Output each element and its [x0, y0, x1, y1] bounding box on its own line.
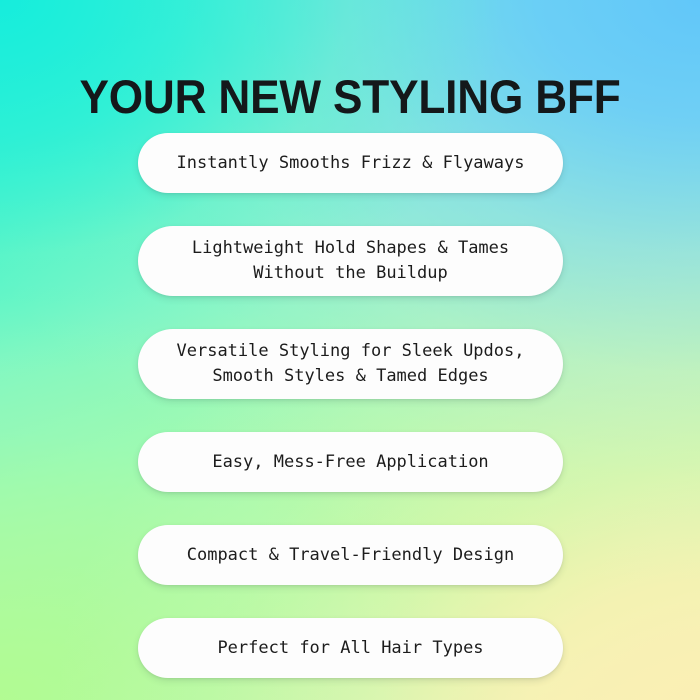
benefit-label: Versatile Styling for Sleek Updos, Smoot…	[177, 339, 525, 389]
page-title: YOUR NEW STYLING BFF	[21, 67, 679, 127]
list-item: Compact & Travel-Friendly Design	[138, 525, 563, 585]
product-benefits-poster: YOUR NEW STYLING BFF Instantly Smooths F…	[0, 0, 700, 700]
benefit-label: Easy, Mess-Free Application	[212, 450, 488, 475]
benefit-label: Lightweight Hold Shapes & Tames Without …	[192, 236, 509, 286]
benefit-label: Compact & Travel-Friendly Design	[187, 543, 515, 568]
poster-content: YOUR NEW STYLING BFF Instantly Smooths F…	[0, 0, 700, 700]
list-item: Perfect for All Hair Types	[138, 618, 563, 678]
list-item: Easy, Mess-Free Application	[138, 432, 563, 492]
list-item: Lightweight Hold Shapes & Tames Without …	[138, 226, 563, 296]
benefit-label: Instantly Smooths Frizz & Flyaways	[177, 151, 525, 176]
benefits-list: Instantly Smooths Frizz & Flyaways Light…	[138, 133, 563, 678]
benefit-label: Perfect for All Hair Types	[217, 636, 483, 661]
list-item: Versatile Styling for Sleek Updos, Smoot…	[138, 329, 563, 399]
list-item: Instantly Smooths Frizz & Flyaways	[138, 133, 563, 193]
